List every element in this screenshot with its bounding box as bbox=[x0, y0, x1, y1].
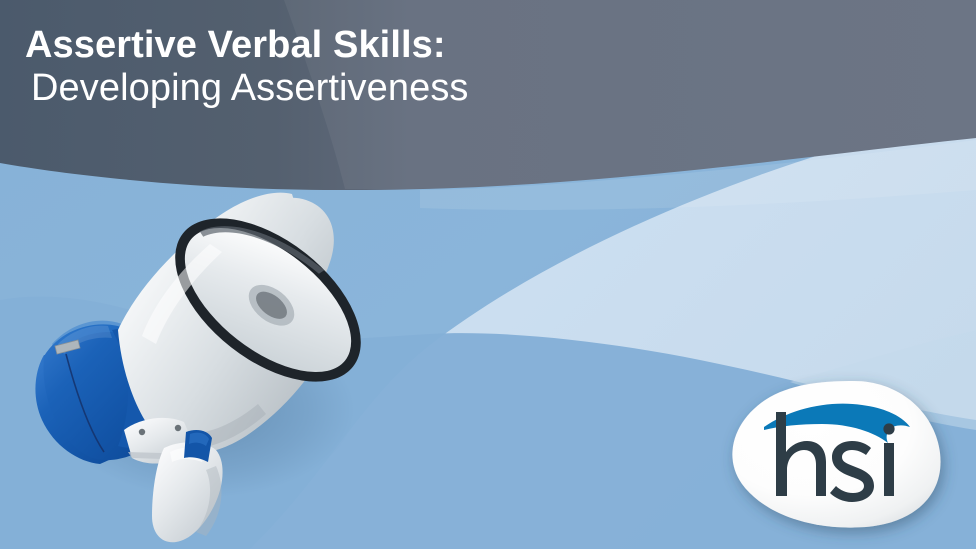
page-title: Assertive Verbal Skills: Developing Asse… bbox=[25, 26, 745, 107]
course-title-slide: Assertive Verbal Skills: Developing Asse… bbox=[0, 0, 976, 549]
title-line-secondary: Developing Assertiveness bbox=[25, 69, 745, 107]
title-line-primary: Assertive Verbal Skills: bbox=[25, 26, 745, 64]
